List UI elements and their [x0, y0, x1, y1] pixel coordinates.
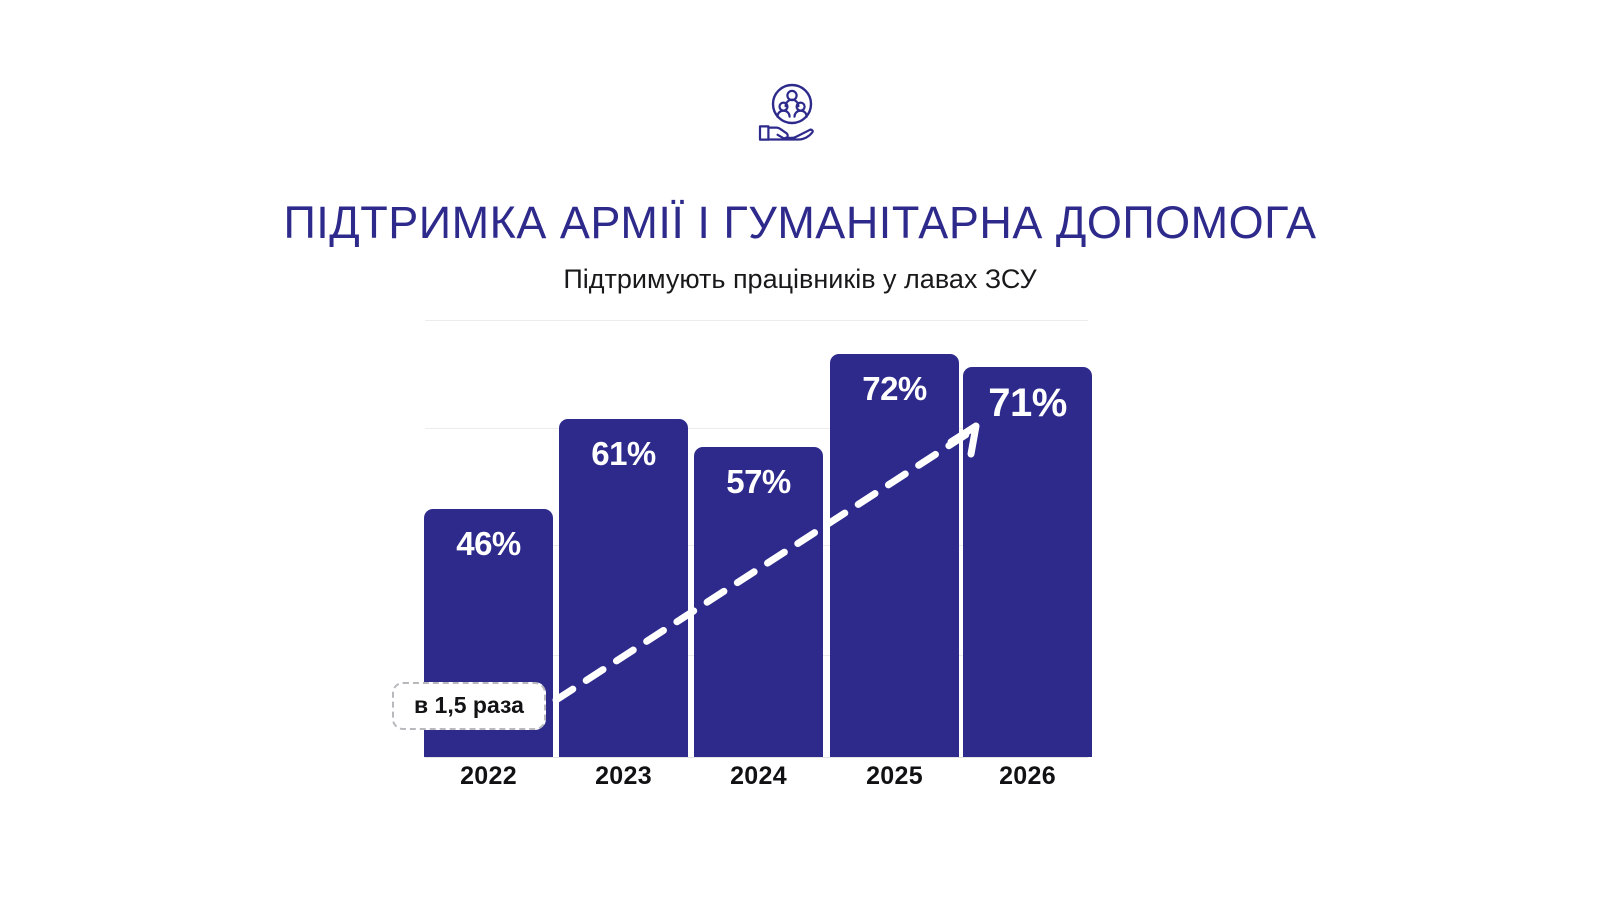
x-label-2023: 2023: [559, 762, 688, 791]
slide-canvas: ПІДТРИМКА АРМІЇ І ГУМАНІТАРНА ДОПОМОГА П…: [0, 0, 1600, 900]
bar-2025[interactable]: 72%: [830, 354, 959, 757]
x-label-2026: 2026: [963, 762, 1092, 791]
page-title: ПІДТРИМКА АРМІЇ І ГУМАНІТАРНА ДОПОМОГА: [0, 198, 1600, 248]
hand-holding-people-icon: [752, 82, 818, 148]
bar-value-2025: 72%: [830, 370, 959, 408]
bar-group-2023: 61%: [559, 419, 688, 757]
growth-callout: в 1,5 раза: [392, 682, 546, 730]
bar-2026[interactable]: 71%: [963, 367, 1092, 757]
bar-group-2025: 72%: [830, 354, 959, 757]
bar-value-2023: 61%: [559, 435, 688, 473]
bar-group-2024: 57%: [694, 447, 823, 757]
x-label-2024: 2024: [694, 762, 823, 791]
bar-value-2022: 46%: [424, 525, 553, 563]
bar-value-2024: 57%: [694, 463, 823, 501]
bar-group-2026: 71%: [963, 367, 1092, 757]
bar-value-2026: 71%: [963, 381, 1092, 426]
bar-2024[interactable]: 57%: [694, 447, 823, 757]
bar-chart: 46% 61% 57% 72% 71%: [420, 300, 1088, 810]
bar-2023[interactable]: 61%: [559, 419, 688, 757]
chart-subtitle: Підтримують працівників у лавах ЗСУ: [0, 263, 1600, 295]
chart-x-axis: 2022 2023 2024 2025 2026: [420, 762, 1088, 802]
x-label-2022: 2022: [424, 762, 553, 791]
x-label-2025: 2025: [830, 762, 959, 791]
